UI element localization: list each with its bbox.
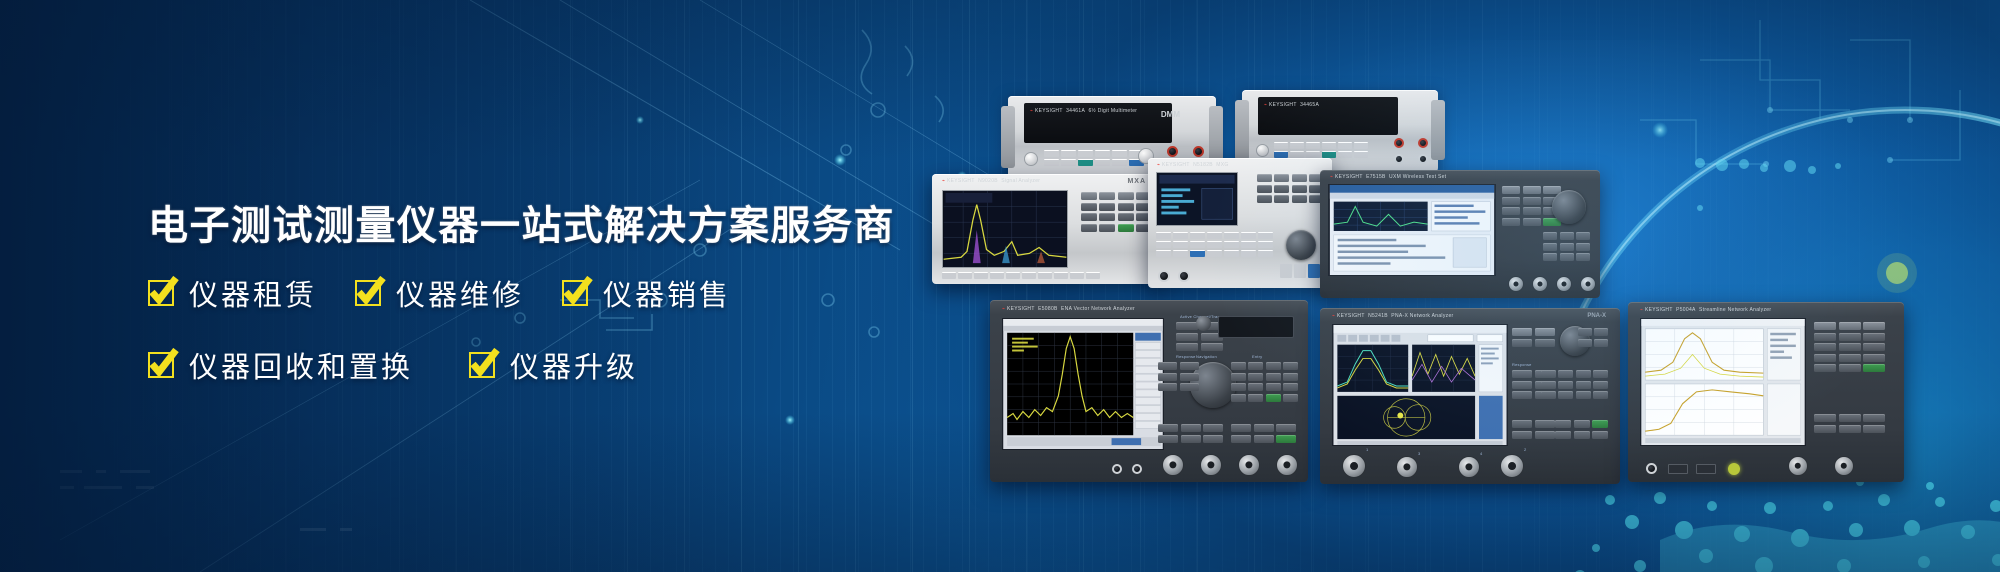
page-title: 电子测试测量仪器一站式解决方案服务商 — [148, 206, 968, 246]
network-analyzer-right: ⌁ KEYSIGHT P5004A Streamline Network Ana… — [1628, 302, 1904, 482]
wireless-test-set: ⌁ KEYSIGHT E7515B UXM Wireless Test Set — [1320, 170, 1600, 298]
network-analyzer-pna: ⌁ KEYSIGHT N5241B PNA-X Network Analyzer… — [1320, 308, 1620, 484]
feature-item-repair[interactable]: 仪器维修 — [355, 272, 524, 314]
feature-item-rental[interactable]: 仪器租赁 — [148, 272, 317, 314]
network-analyzer-ena: ⌁ KEYSIGHT E5080B ENA Vector Network Ana… — [990, 300, 1308, 482]
checkbox-checked-icon — [148, 280, 174, 306]
feature-label: 仪器回收和置换 — [189, 344, 413, 386]
feature-label: 仪器升级 — [510, 344, 638, 386]
feature-item-recycle-exchange[interactable]: 仪器回收和置换 — [148, 344, 413, 386]
hero-banner: ⌁ KEYSIGHT 34461A 6½ Digit Multimeter DM… — [0, 0, 2000, 572]
feature-row-2: 仪器回收和置换 仪器升级 — [148, 344, 968, 386]
feature-label: 仪器维修 — [396, 272, 524, 314]
feature-row-1: 仪器租赁 仪器维修 仪器销售 — [148, 272, 968, 314]
instrument-cluster: ⌁ KEYSIGHT 34461A 6½ Digit Multimeter DM… — [1020, 78, 1980, 508]
feature-item-upgrade[interactable]: 仪器升级 — [469, 344, 638, 386]
feature-label: 仪器销售 — [603, 272, 731, 314]
feature-label: 仪器租赁 — [189, 272, 317, 314]
banner-copy: 电子测试测量仪器一站式解决方案服务商 仪器租赁 仪器维修 — [148, 206, 968, 386]
feature-item-sales[interactable]: 仪器销售 — [562, 272, 731, 314]
checkbox-checked-icon — [355, 280, 381, 306]
checkbox-checked-icon — [148, 352, 174, 378]
checkbox-checked-icon — [469, 352, 495, 378]
signal-generator-mxg: ⌁ KEYSIGHT N5182B MXG — [1148, 158, 1332, 288]
checkbox-checked-icon — [562, 280, 588, 306]
